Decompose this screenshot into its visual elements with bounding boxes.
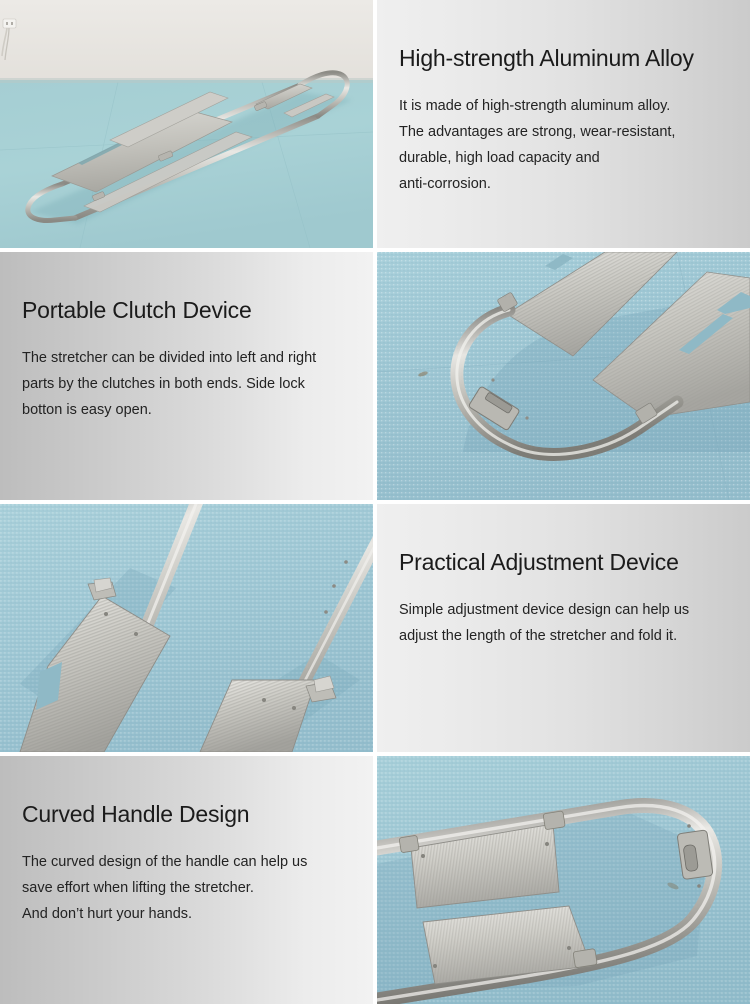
clutch-closeup-illustration — [377, 252, 750, 500]
full-stretcher-photo — [0, 0, 373, 248]
adjustment-panels-photo — [0, 504, 373, 752]
panel-title: Portable Clutch Device — [22, 252, 351, 323]
feature-high-strength-aluminum-alloy: High-strength Aluminum Alloy It is made … — [377, 0, 750, 248]
body-line: The stretcher can be divided into left a… — [22, 345, 351, 371]
body-line: anti-corrosion. — [399, 171, 728, 197]
body-line: adjust the length of the stretcher and f… — [399, 623, 728, 649]
clutch-device-closeup-photo — [377, 252, 750, 500]
body-line: It is made of high-strength aluminum all… — [399, 93, 728, 119]
body-line: durable, high load capacity and — [399, 145, 728, 171]
panel-body: The curved design of the handle can help… — [22, 827, 351, 927]
adjustment-panels-illustration — [0, 504, 373, 752]
panel-body: The stretcher can be divided into left a… — [22, 323, 351, 423]
panel-title: Curved Handle Design — [22, 756, 351, 827]
feature-curved-handle-design: Curved Handle Design The curved design o… — [0, 756, 373, 1004]
feature-portable-clutch-device: Portable Clutch Device The stretcher can… — [0, 252, 373, 500]
curved-handle-illustration — [377, 756, 750, 1004]
panel-body: It is made of high-strength aluminum all… — [399, 71, 728, 197]
feature-practical-adjustment-device: Practical Adjustment Device Simple adjus… — [377, 504, 750, 752]
panel-title: Practical Adjustment Device — [399, 504, 728, 575]
full-stretcher-illustration — [0, 0, 373, 248]
body-line: The advantages are strong, wear-resistan… — [399, 119, 728, 145]
body-line: parts by the clutches in both ends. Side… — [22, 371, 351, 397]
body-line: Simple adjustment device design can help… — [399, 597, 728, 623]
body-line: And don’t hurt your hands. — [22, 901, 351, 927]
panel-body: Simple adjustment device design can help… — [399, 575, 728, 649]
body-line: save effort when lifting the stretcher. — [22, 875, 351, 901]
wall-background — [0, 0, 373, 82]
panel-title: High-strength Aluminum Alloy — [399, 0, 728, 71]
feature-grid: High-strength Aluminum Alloy It is made … — [0, 0, 750, 1000]
curved-handle-closeup-photo — [377, 756, 750, 1004]
body-line: The curved design of the handle can help… — [22, 849, 351, 875]
body-line: botton is easy open. — [22, 397, 351, 423]
